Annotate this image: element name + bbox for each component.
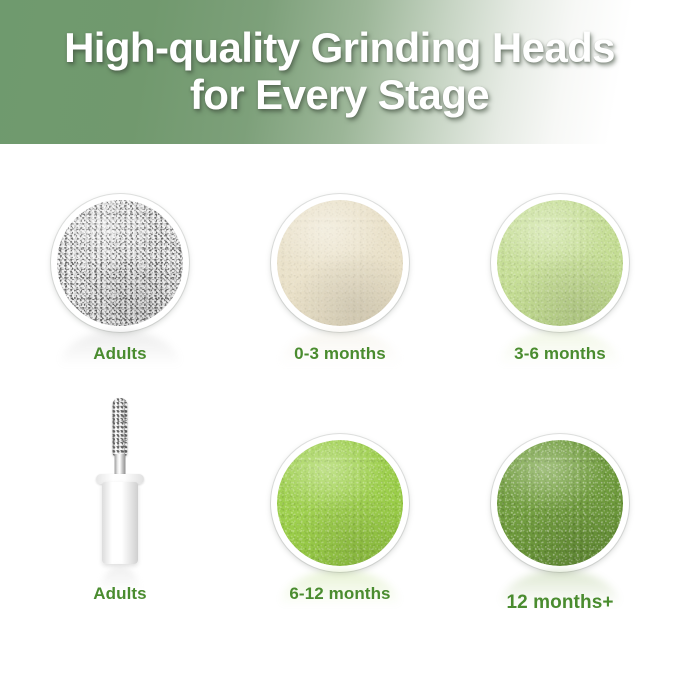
grid-item-6-12-months[interactable]: 6-12 months [227, 384, 453, 651]
product-infographic: High-quality Grinding Heads for Every St… [0, 0, 679, 679]
product-image-adults-disc [7, 144, 233, 344]
caption-label: Adults [7, 344, 233, 364]
disc-adults [51, 194, 189, 332]
grid-item-12-months-plus[interactable]: 12 months+ [447, 384, 673, 651]
page-title: High-quality Grinding Heads for Every St… [0, 24, 679, 118]
grinding-head-grid: Adults 0-3 months [0, 144, 679, 679]
grid-item-adults-bit[interactable]: Adults [7, 384, 233, 651]
bit-body [102, 482, 138, 564]
disc-6-12-months [271, 434, 409, 572]
product-image-adults-bit [7, 384, 233, 584]
grid-item-adults-disc[interactable]: Adults [7, 144, 233, 411]
disc-3-6-months [491, 194, 629, 332]
disc-12-months-plus [491, 434, 629, 572]
grinding-bit [60, 398, 180, 578]
caption-label: 12 months+ [447, 592, 673, 614]
grid-item-3-6-months[interactable]: 3-6 months [447, 144, 673, 411]
bit-shank [115, 454, 126, 476]
grid-item-0-3-months[interactable]: 0-3 months [227, 144, 453, 411]
caption-label: 3-6 months [447, 344, 673, 364]
bit-grit-tip [113, 398, 128, 456]
product-image-6-12-months [227, 384, 453, 584]
header-banner: High-quality Grinding Heads for Every St… [0, 0, 679, 144]
caption-label: 0-3 months [227, 344, 453, 364]
product-image-0-3-months [227, 144, 453, 344]
product-image-3-6-months [447, 144, 673, 344]
product-image-12-months-plus [447, 384, 673, 584]
disc-0-3-months [271, 194, 409, 332]
caption-label: Adults [7, 584, 233, 604]
caption-label: 6-12 months [227, 584, 453, 604]
